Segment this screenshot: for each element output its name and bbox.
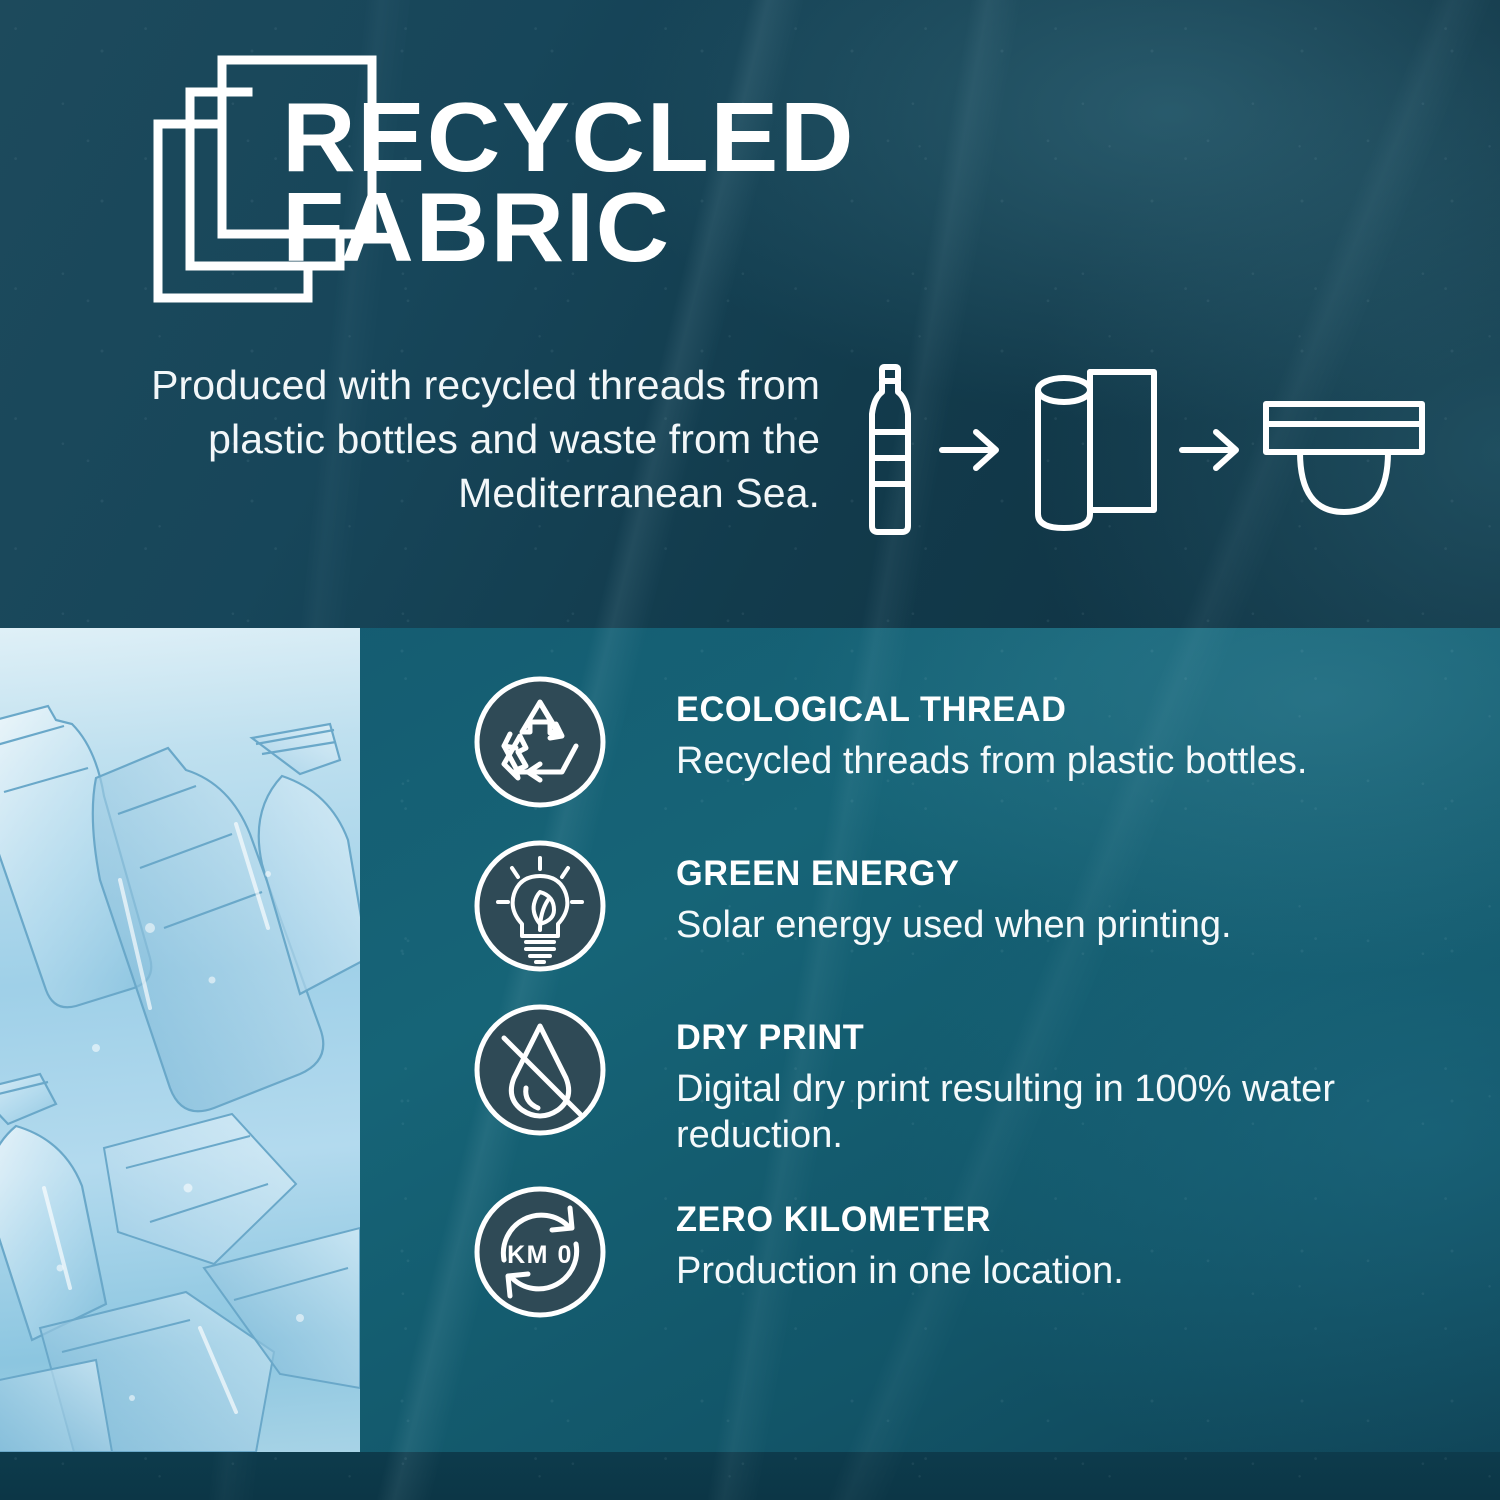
header-section: RECYCLED FABRIC Produced with recycled t… [0, 0, 1500, 628]
bottles-illustration [0, 628, 360, 1452]
arrow-right-icon [1182, 432, 1236, 468]
plastic-bottle-icon [872, 367, 908, 532]
feature-description: Recycled threads from plastic bottles. [676, 738, 1308, 784]
feature-title: GREEN ENERGY [676, 856, 1220, 893]
swimwear-brief-icon [1266, 404, 1422, 512]
feature-text: ZERO KILOMETER Production in one locatio… [676, 1182, 1124, 1294]
recycle-triangle-icon [470, 672, 610, 812]
feature-title: ECOLOGICAL THREAD [676, 692, 1295, 729]
arrow-right-icon [942, 432, 996, 468]
no-water-drop-icon [470, 1000, 610, 1140]
feature-description: Production in one location. [676, 1248, 1124, 1294]
feature-item-zero-kilometer: KM 0 ZERO KILOMETER Production in one lo… [470, 1182, 1480, 1322]
feature-text: DRY PRINT Digital dry print resulting in… [676, 1000, 1376, 1158]
fabric-roll-icon [1038, 372, 1154, 528]
header-tagline: Produced with recycled threads from plas… [120, 358, 820, 520]
page-title-line2: FABRIC [282, 182, 1010, 272]
process-diagram [852, 362, 1432, 537]
feature-title: ZERO KILOMETER [676, 1202, 1115, 1239]
feature-item-green-energy: GREEN ENERGY Solar energy used when prin… [470, 836, 1480, 976]
footer-strip [0, 1452, 1500, 1500]
feature-item-dry-print: DRY PRINT Digital dry print resulting in… [470, 1000, 1480, 1158]
infographic-canvas: RECYCLED FABRIC Produced with recycled t… [0, 0, 1500, 1500]
feature-text: GREEN ENERGY Solar energy used when prin… [676, 836, 1232, 948]
page-title: RECYCLED FABRIC [282, 92, 1010, 272]
lightbulb-leaf-icon [470, 836, 610, 976]
feature-description: Digital dry print resulting in 100% wate… [676, 1066, 1376, 1159]
feature-title: DRY PRINT [676, 1020, 1362, 1057]
feature-description: Solar energy used when printing. [676, 902, 1232, 948]
features-list: ECOLOGICAL THREAD Recycled threads from … [470, 672, 1480, 1322]
feature-text: ECOLOGICAL THREAD Recycled threads from … [676, 672, 1308, 784]
km-zero-cycle-icon: KM 0 [470, 1182, 610, 1322]
feature-item-ecological-thread: ECOLOGICAL THREAD Recycled threads from … [470, 672, 1480, 812]
km-zero-label: KM 0 [507, 1241, 573, 1269]
plastic-bottles-photo [0, 628, 360, 1452]
